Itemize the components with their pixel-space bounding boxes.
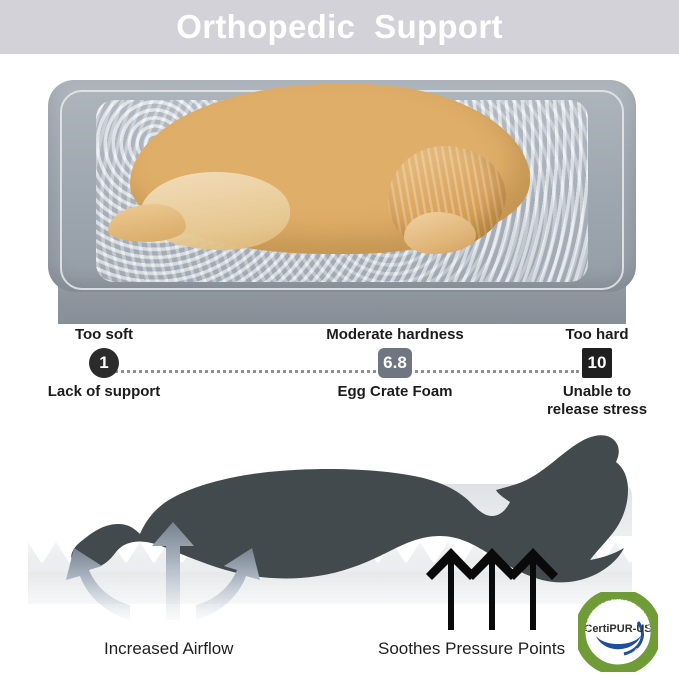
badge-center-text: CertiPUR-US xyxy=(584,623,651,635)
scale-stop-too-soft: Too soft 1 Lack of support xyxy=(24,326,184,401)
hardness-scale: Too soft 1 Lack of support Moderate hard… xyxy=(0,326,679,422)
page-title: Orthopedic Support xyxy=(0,0,679,54)
scale-stop-bottom-label: Egg Crate Foam xyxy=(315,383,475,401)
caption-soothes-pressure-points: Soothes Pressure Points xyxy=(378,639,565,659)
dog-muzzle xyxy=(404,212,476,254)
scale-stop-top-label: Too soft xyxy=(24,326,184,344)
scale-marker-6-8: 6.8 xyxy=(378,348,412,378)
scale-marker-1: 1 xyxy=(89,348,119,378)
scale-stop-top-label: Moderate hardness xyxy=(315,326,475,344)
scale-stop-moderate: Moderate hardness 6.8 Egg Crate Foam xyxy=(315,326,475,401)
scale-stop-bottom-label: Unable to release stress xyxy=(517,383,677,419)
certipur-us-badge: CertiPUR-US CONTAINS CERTIFIED FLEXIBLE … xyxy=(578,592,658,672)
scale-marker-10: 10 xyxy=(582,348,612,378)
scale-stop-bottom-label: Lack of support xyxy=(24,383,184,401)
scale-stop-top-label: Too hard xyxy=(517,326,677,344)
caption-increased-airflow: Increased Airflow xyxy=(104,639,233,659)
scale-stop-too-hard: Too hard 10 Unable to release stress xyxy=(517,326,677,419)
product-photo xyxy=(0,54,679,324)
